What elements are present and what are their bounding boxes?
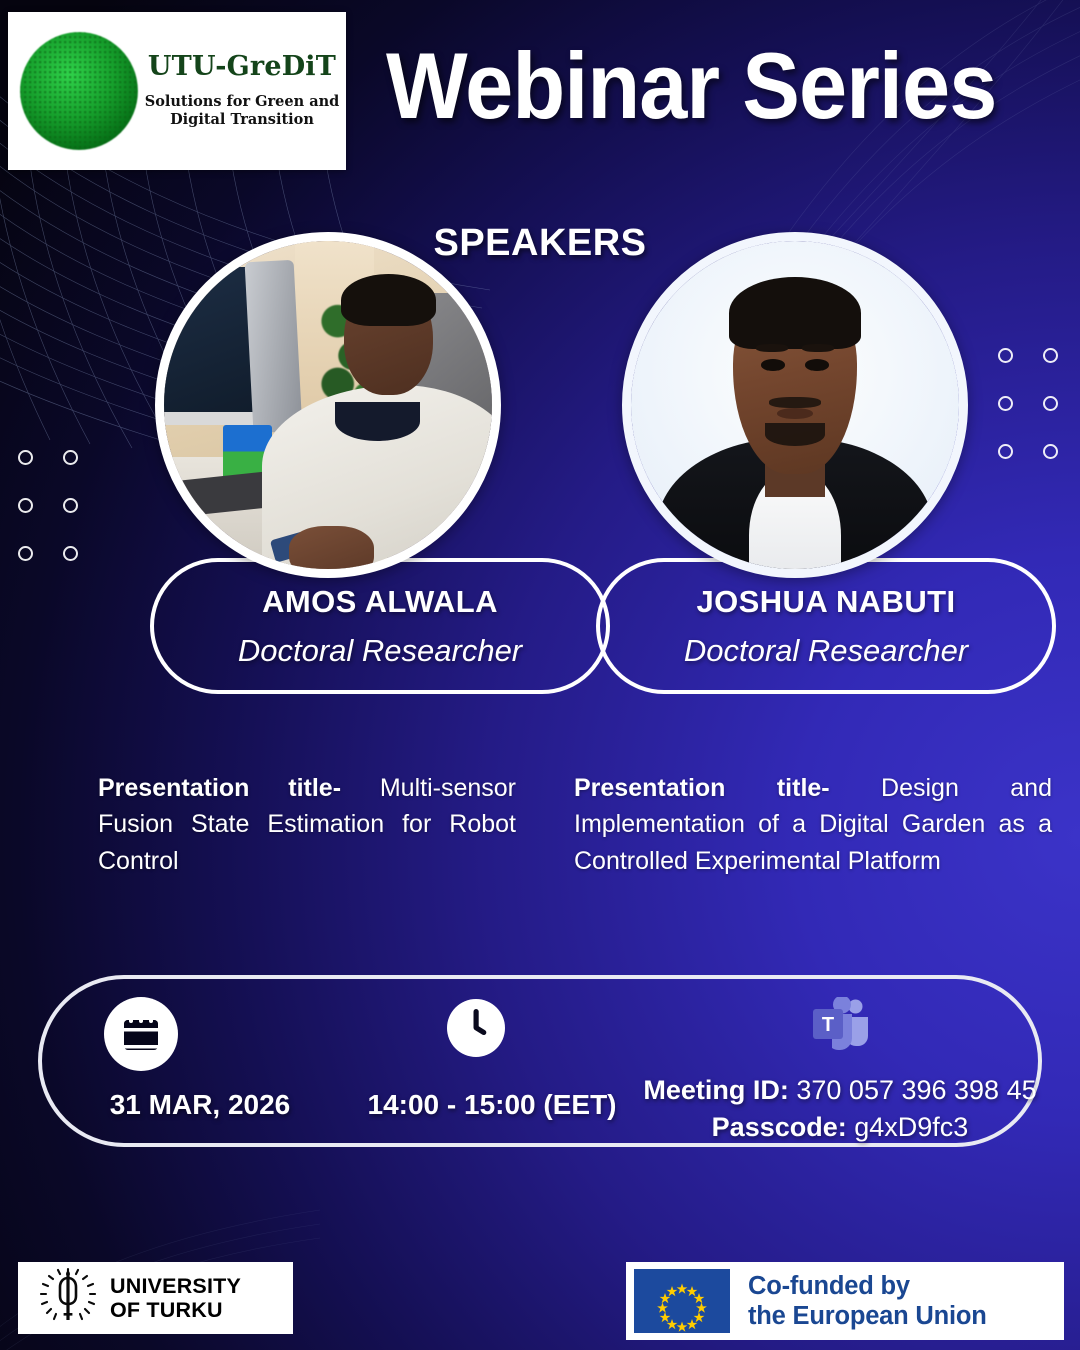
- eu-cofunding-logo: Co-funded by the European Union: [626, 1262, 1064, 1340]
- passcode-label: Passcode:: [712, 1112, 847, 1142]
- dot-icon: [1043, 396, 1058, 411]
- dot-icon: [63, 450, 78, 465]
- turku-torch-emblem-icon: [40, 1267, 96, 1330]
- utu-gredit-logo-card: UTU-GreDiT Solutions for Green and Digit…: [8, 12, 346, 170]
- dot-icon: [18, 450, 33, 465]
- presentation-title-1: Presentation title- Multi-sensor Fusion …: [98, 770, 516, 879]
- presentation-title-label: Presentation title-: [574, 774, 830, 802]
- eu-line-2: the European Union: [748, 1301, 987, 1331]
- speaker-photo-portrait: [622, 232, 968, 578]
- speaker-name-pill-1: AMOS ALWALA Doctoral Researcher: [150, 558, 610, 694]
- presentation-title-label: Presentation title-: [98, 774, 341, 802]
- turku-line-2: OF TURKU: [110, 1298, 241, 1322]
- logo-subtitle-line1: Solutions for Green and: [144, 93, 340, 111]
- speaker-name-pill-2: JOSHUA NABUTI Doctoral Researcher: [596, 558, 1056, 694]
- passcode-value: g4xD9fc3: [847, 1112, 969, 1142]
- clock-icon: [445, 997, 507, 1064]
- speaker-role: Doctoral Researcher: [614, 635, 1038, 666]
- event-time: 14:00 - 15:00 (EET): [342, 1089, 642, 1121]
- european-union-flag-icon: [634, 1269, 730, 1333]
- logo-subtitle: Solutions for Green and Digital Transiti…: [144, 93, 340, 129]
- dot-icon: [998, 444, 1013, 459]
- green-pixel-globe-icon: [14, 26, 144, 156]
- dot-grid-left-decoration: [18, 450, 108, 594]
- dot-grid-right-decoration: [998, 348, 1080, 492]
- logo-text-block: UTU-GreDiT Solutions for Green and Digit…: [144, 53, 346, 129]
- meeting-info-column: T Meeting ID: 370 057 396 398 45 Passcod…: [642, 979, 1038, 1143]
- dot-icon: [998, 396, 1013, 411]
- event-date: 31 MAR, 2026: [58, 1089, 342, 1121]
- meeting-id-label: Meeting ID:: [643, 1075, 789, 1105]
- logo-title: UTU-GreDiT: [144, 53, 340, 80]
- dot-icon: [1043, 348, 1058, 363]
- meeting-id-row: Meeting ID: 370 057 396 398 45: [642, 1075, 1038, 1106]
- microsoft-teams-icon: T: [810, 997, 870, 1058]
- page-title: Webinar Series: [386, 32, 956, 140]
- passcode-row: Passcode: g4xD9fc3: [642, 1112, 1038, 1143]
- speakers-section-label: SPEAKERS: [0, 222, 1080, 265]
- speaker-photo-office: [155, 232, 501, 578]
- university-of-turku-logo: UNIVERSITY OF TURKU: [18, 1262, 293, 1334]
- eu-line-1: Co-funded by: [748, 1271, 987, 1301]
- dot-icon: [18, 546, 33, 561]
- dot-icon: [63, 546, 78, 561]
- logo-subtitle-line2: Digital Transition: [144, 111, 340, 129]
- dot-icon: [998, 348, 1013, 363]
- event-date-column: 31 MAR, 2026: [42, 979, 342, 1143]
- turku-line-1: UNIVERSITY: [110, 1274, 241, 1298]
- dot-icon: [18, 498, 33, 513]
- turku-wordmark: UNIVERSITY OF TURKU: [110, 1274, 241, 1322]
- event-time-column: 14:00 - 15:00 (EET): [342, 979, 642, 1143]
- svg-text:T: T: [822, 1014, 834, 1036]
- speaker-name: AMOS ALWALA: [168, 586, 592, 617]
- presentation-title-2: Presentation title- Design and Implement…: [574, 770, 1052, 879]
- event-details-bar: 31 MAR, 2026 14:00 - 15:00 (EET): [38, 975, 1042, 1147]
- meeting-id-value: 370 057 396 398 45: [789, 1075, 1037, 1105]
- speaker-role: Doctoral Researcher: [168, 635, 592, 666]
- eu-wordmark: Co-funded by the European Union: [748, 1271, 987, 1331]
- webinar-poster: UTU-GreDiT Solutions for Green and Digit…: [0, 0, 1080, 1350]
- calendar-icon: [104, 997, 178, 1076]
- dot-icon: [1043, 444, 1058, 459]
- speaker-name: JOSHUA NABUTI: [614, 586, 1038, 617]
- dot-icon: [63, 498, 78, 513]
